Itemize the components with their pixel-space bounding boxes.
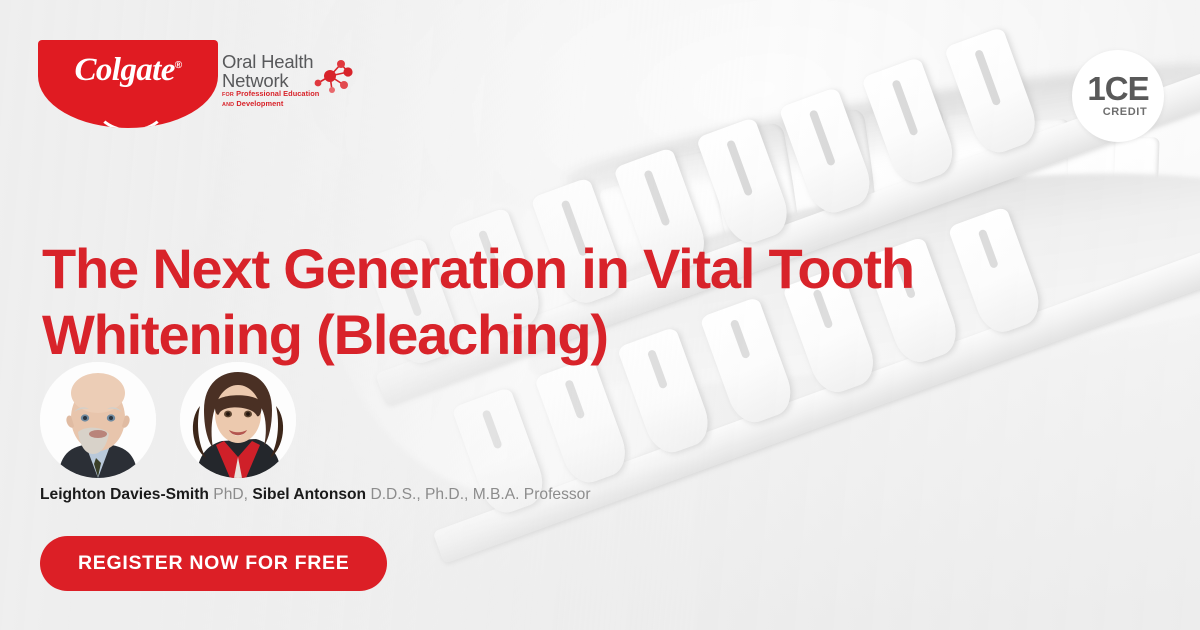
ce-credit-label: CREDIT [1103, 106, 1148, 118]
presenter-name-2: Sibel Antonson [252, 486, 366, 503]
network-subtitle-text2: Development [236, 99, 283, 108]
network-subtitle-line2: AND Development [222, 100, 352, 110]
ce-credit-count: 1CE [1087, 74, 1148, 104]
colgate-wordmark: Colgate® [38, 52, 218, 89]
avatar-sibel-antonson [180, 362, 296, 478]
presenter-degrees-1: PhD, [213, 486, 248, 503]
molecule-icon [308, 52, 356, 100]
presenter-name-1: Leighton Davies-Smith [40, 486, 209, 503]
webinar-promo-banner: Colgate® Oral Health Network FOR Profess… [0, 0, 1200, 630]
oral-health-network-lockup[interactable]: Oral Health Network FOR Professional Edu… [222, 52, 352, 109]
network-subtitle-prefix2: AND [222, 102, 234, 108]
ce-credit-badge: 1CE CREDIT [1072, 50, 1164, 142]
registered-mark-icon: ® [175, 60, 182, 71]
page-title-line2: Whitening (Bleaching) [42, 302, 1162, 368]
smile-arc-icon [94, 92, 168, 128]
avatar-leighton-davies-smith [40, 362, 156, 478]
page-title: The Next Generation in Vital Tooth White… [42, 236, 1162, 368]
presenter-degrees-2: D.D.S., Ph.D., M.B.A. Professor [370, 486, 590, 503]
colgate-dome-logo[interactable]: Colgate® [38, 40, 218, 128]
network-subtitle-text1: Professional Education [236, 89, 319, 98]
network-subtitle-prefix1: FOR [222, 92, 234, 98]
presenter-names: Leighton Davies-Smith PhD, Sibel Antonso… [40, 485, 591, 505]
page-title-line1: The Next Generation in Vital Tooth [42, 236, 1162, 302]
colgate-wordmark-text: Colgate [74, 52, 174, 88]
register-now-button[interactable]: REGISTER NOW FOR FREE [40, 536, 387, 591]
